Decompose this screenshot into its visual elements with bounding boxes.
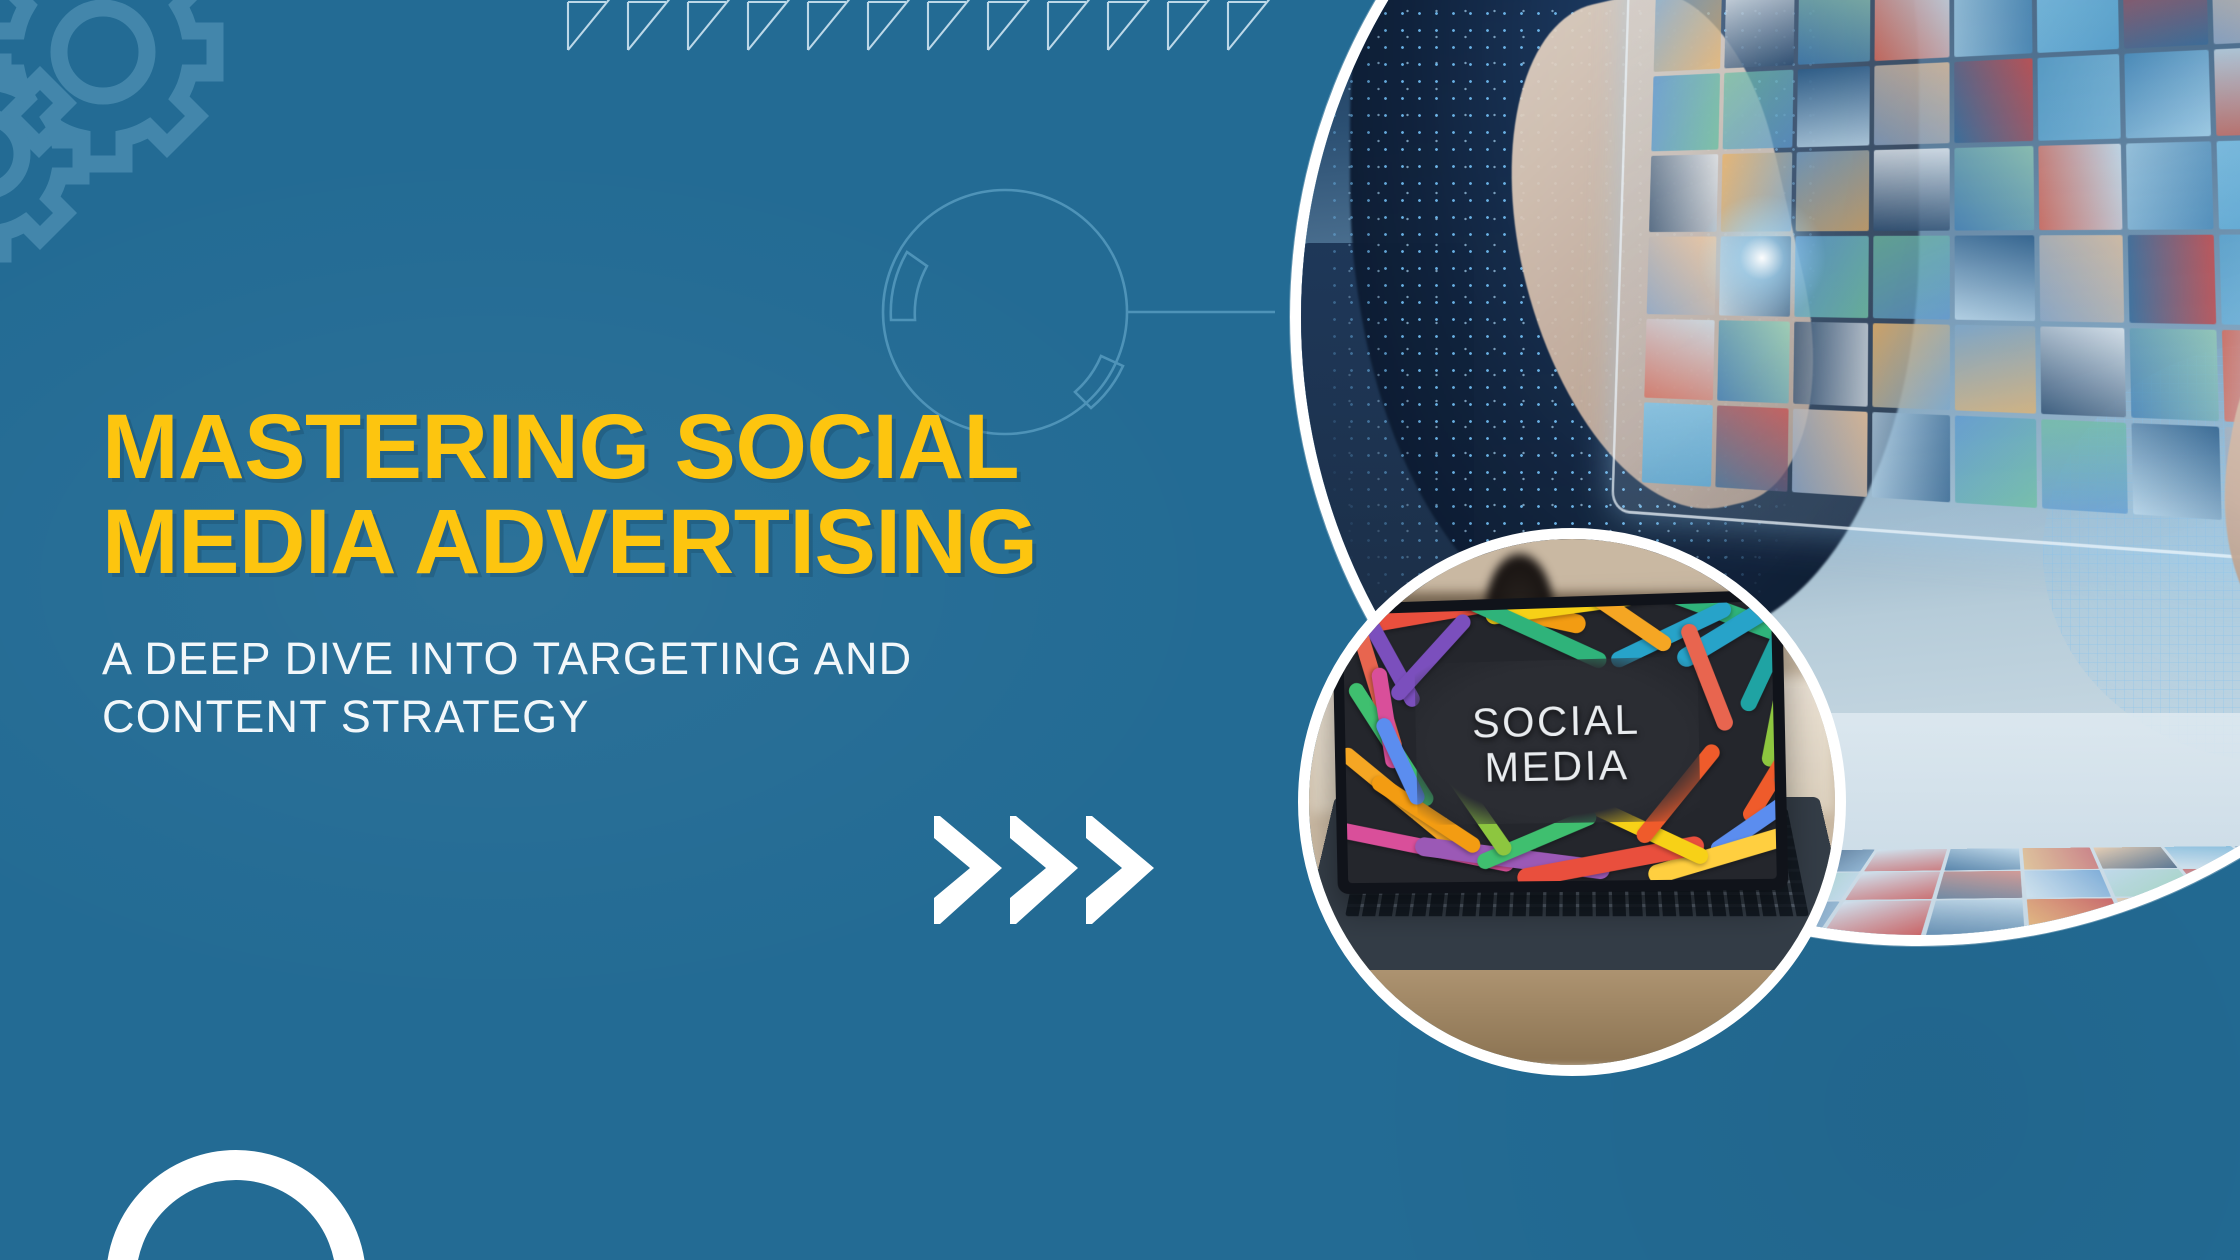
bottom-left-circle-outline [106, 1150, 366, 1260]
page-subtitle: A DEEP DIVE INTO TARGETING AND CONTENT S… [102, 630, 1282, 747]
page-title: MASTERING SOCIAL MEDIA ADVERTISING [102, 400, 1282, 590]
laptop-screen-text: SOCIAL MEDIA [1345, 694, 1776, 792]
gears-icon [0, 0, 294, 302]
laptop-social-media-photo: SOCIAL MEDIA [1298, 528, 1846, 1076]
triple-chevron-right-icon [930, 810, 1180, 930]
diagonal-slash-pattern-icon [560, 0, 1320, 112]
text-block: MASTERING SOCIAL MEDIA ADVERTISING A DEE… [102, 400, 1282, 747]
slide-root: MASTERING SOCIAL MEDIA ADVERTISING A DEE… [0, 0, 2240, 1260]
